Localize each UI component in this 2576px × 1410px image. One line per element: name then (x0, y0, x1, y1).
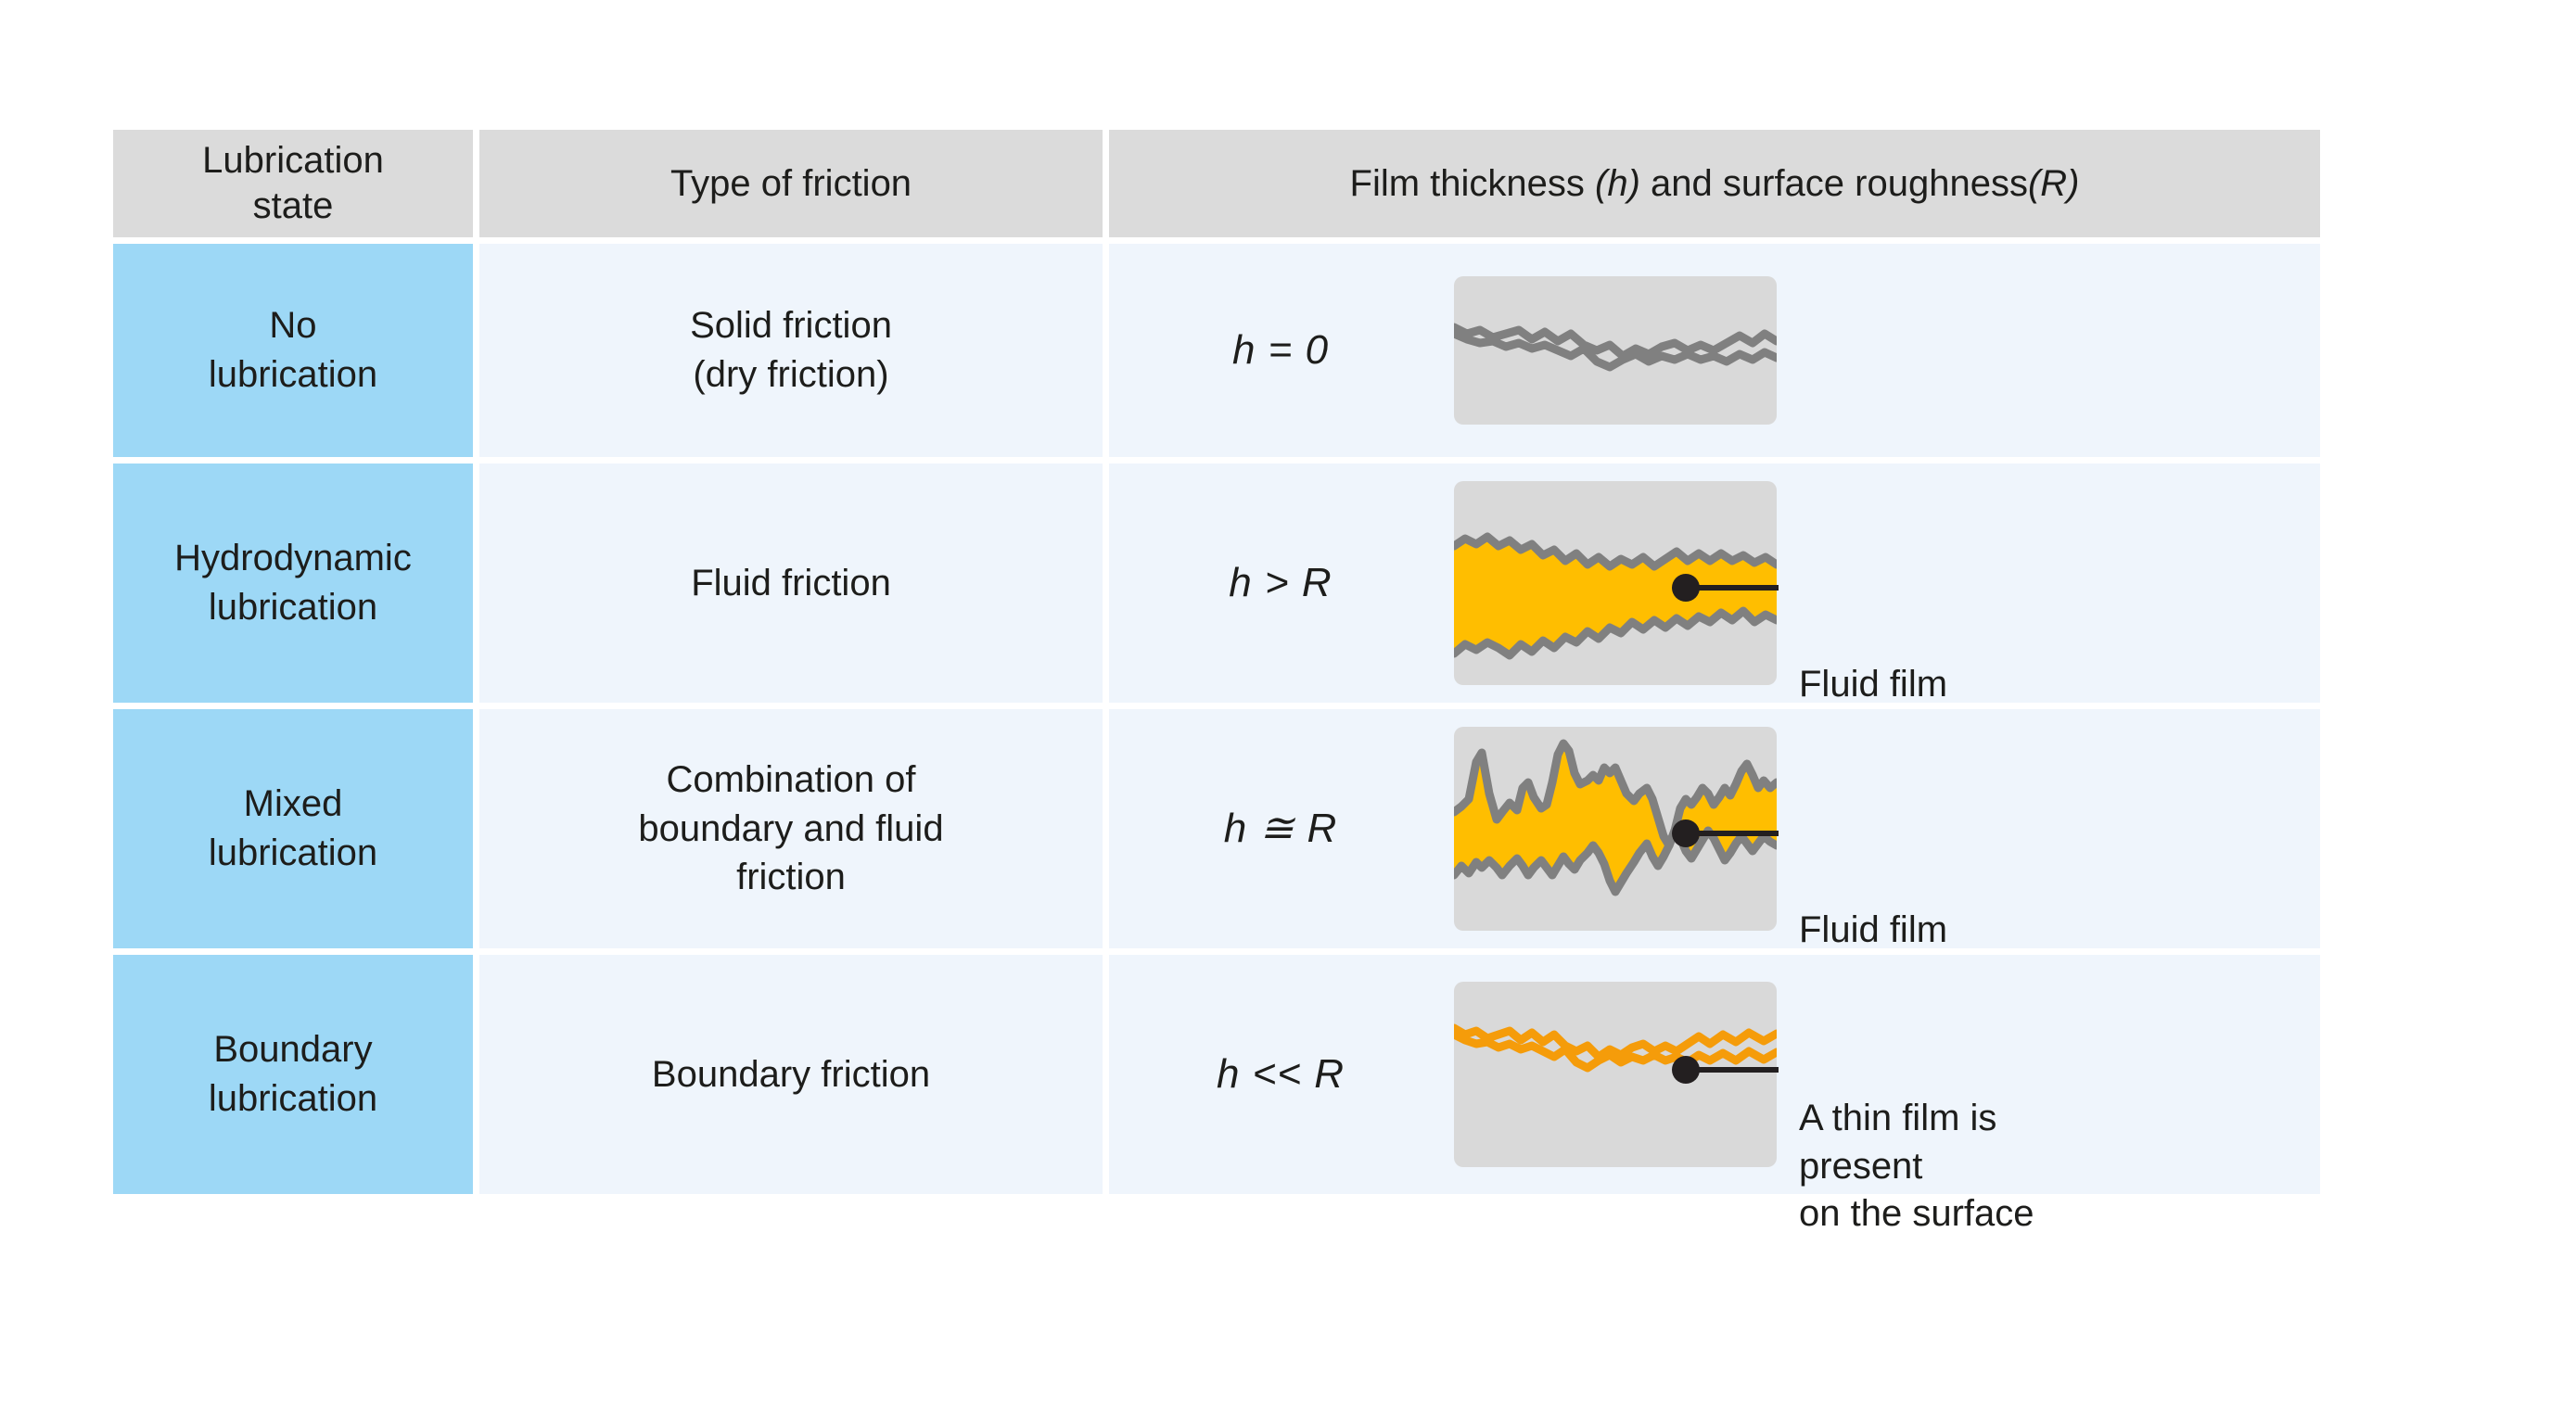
cell-lubrication-state: Mixedlubrication (113, 709, 473, 948)
symbol-r: (R) (2028, 163, 2080, 204)
table-row: Nolubrication Solid friction(dry frictio… (113, 244, 2320, 457)
callout-thin-film-label: A thin film ispresenton the surface (1799, 1098, 2034, 1233)
dry-contact-svg (1454, 276, 1777, 425)
formula-h-approx-r: h ≅ R (1128, 802, 1434, 856)
header-type-of-friction: Type of friction (479, 130, 1103, 237)
table-header-row: Lubricationstate Type of friction Film t… (113, 130, 2320, 237)
cell-film-diagram: h ≅ R Fluid film (1109, 709, 2320, 948)
table-row: Hydrodynamiclubrication Fluid friction h… (113, 464, 2320, 703)
cell-lubrication-state: Hydrodynamiclubrication (113, 464, 473, 703)
header-lubrication-state-label: Lubricationstate (202, 138, 384, 229)
type-of-friction-label: Fluid friction (691, 559, 891, 608)
callout-fluid-film: Fluid film (1799, 812, 1947, 955)
formula-h-equals-zero: h = 0 (1128, 324, 1434, 377)
cell-film-diagram: h > R Fluid film (1109, 464, 2320, 703)
callout-fluid-film: Fluid film (1799, 566, 1947, 709)
table-row: Mixedlubrication Combination ofboundary … (113, 709, 2320, 948)
type-of-friction-label: Boundary friction (652, 1050, 930, 1099)
callout-fluid-film-label: Fluid film (1799, 909, 1947, 950)
cell-lubrication-state: Boundarylubrication (113, 955, 473, 1194)
lubrication-state-label: Mixedlubrication (209, 780, 377, 878)
formula-h-greater-than-r: h > R (1128, 556, 1434, 610)
cell-type-of-friction: Fluid friction (479, 464, 1103, 703)
header-film-thickness: Film thickness (h) and surface roughness… (1109, 130, 2320, 237)
lubrication-state-label: Hydrodynamiclubrication (174, 534, 412, 632)
symbol-h: (h) (1595, 163, 1640, 204)
cell-film-diagram: h << R A thin film ispresenton the surfa… (1109, 955, 2320, 1194)
diagram-dry-contact (1454, 276, 1777, 425)
callout-fluid-film-label: Fluid film (1799, 664, 1947, 705)
table-row: Boundarylubrication Boundary friction h … (113, 955, 2320, 1194)
header-type-of-friction-label: Type of friction (670, 161, 912, 207)
type-of-friction-label: Combination ofboundary and fluidfriction (638, 756, 943, 902)
cell-film-diagram: h = 0 (1109, 244, 2320, 457)
type-of-friction-label: Solid friction(dry friction) (690, 301, 892, 400)
lubrication-state-label: Nolubrication (209, 301, 377, 400)
header-lubrication-state: Lubricationstate (113, 130, 473, 237)
leader-line-fluid-film (1669, 815, 1780, 852)
header-film-thickness-label: Film thickness (h) and surface roughness… (1350, 161, 2080, 207)
leader-line-thin-film (1669, 1051, 1780, 1088)
cell-type-of-friction: Solid friction(dry friction) (479, 244, 1103, 457)
formula-h-much-less-than-r: h << R (1128, 1048, 1434, 1101)
lubrication-state-label: Boundarylubrication (209, 1025, 377, 1124)
callout-thin-film: A thin film ispresenton the surface (1799, 1000, 2034, 1238)
cell-lubrication-state: Nolubrication (113, 244, 473, 457)
cell-type-of-friction: Boundary friction (479, 955, 1103, 1194)
leader-line-fluid-film (1669, 569, 1780, 606)
cell-type-of-friction: Combination ofboundary and fluidfriction (479, 709, 1103, 948)
lubrication-states-table: Lubricationstate Type of friction Film t… (113, 130, 2320, 1194)
